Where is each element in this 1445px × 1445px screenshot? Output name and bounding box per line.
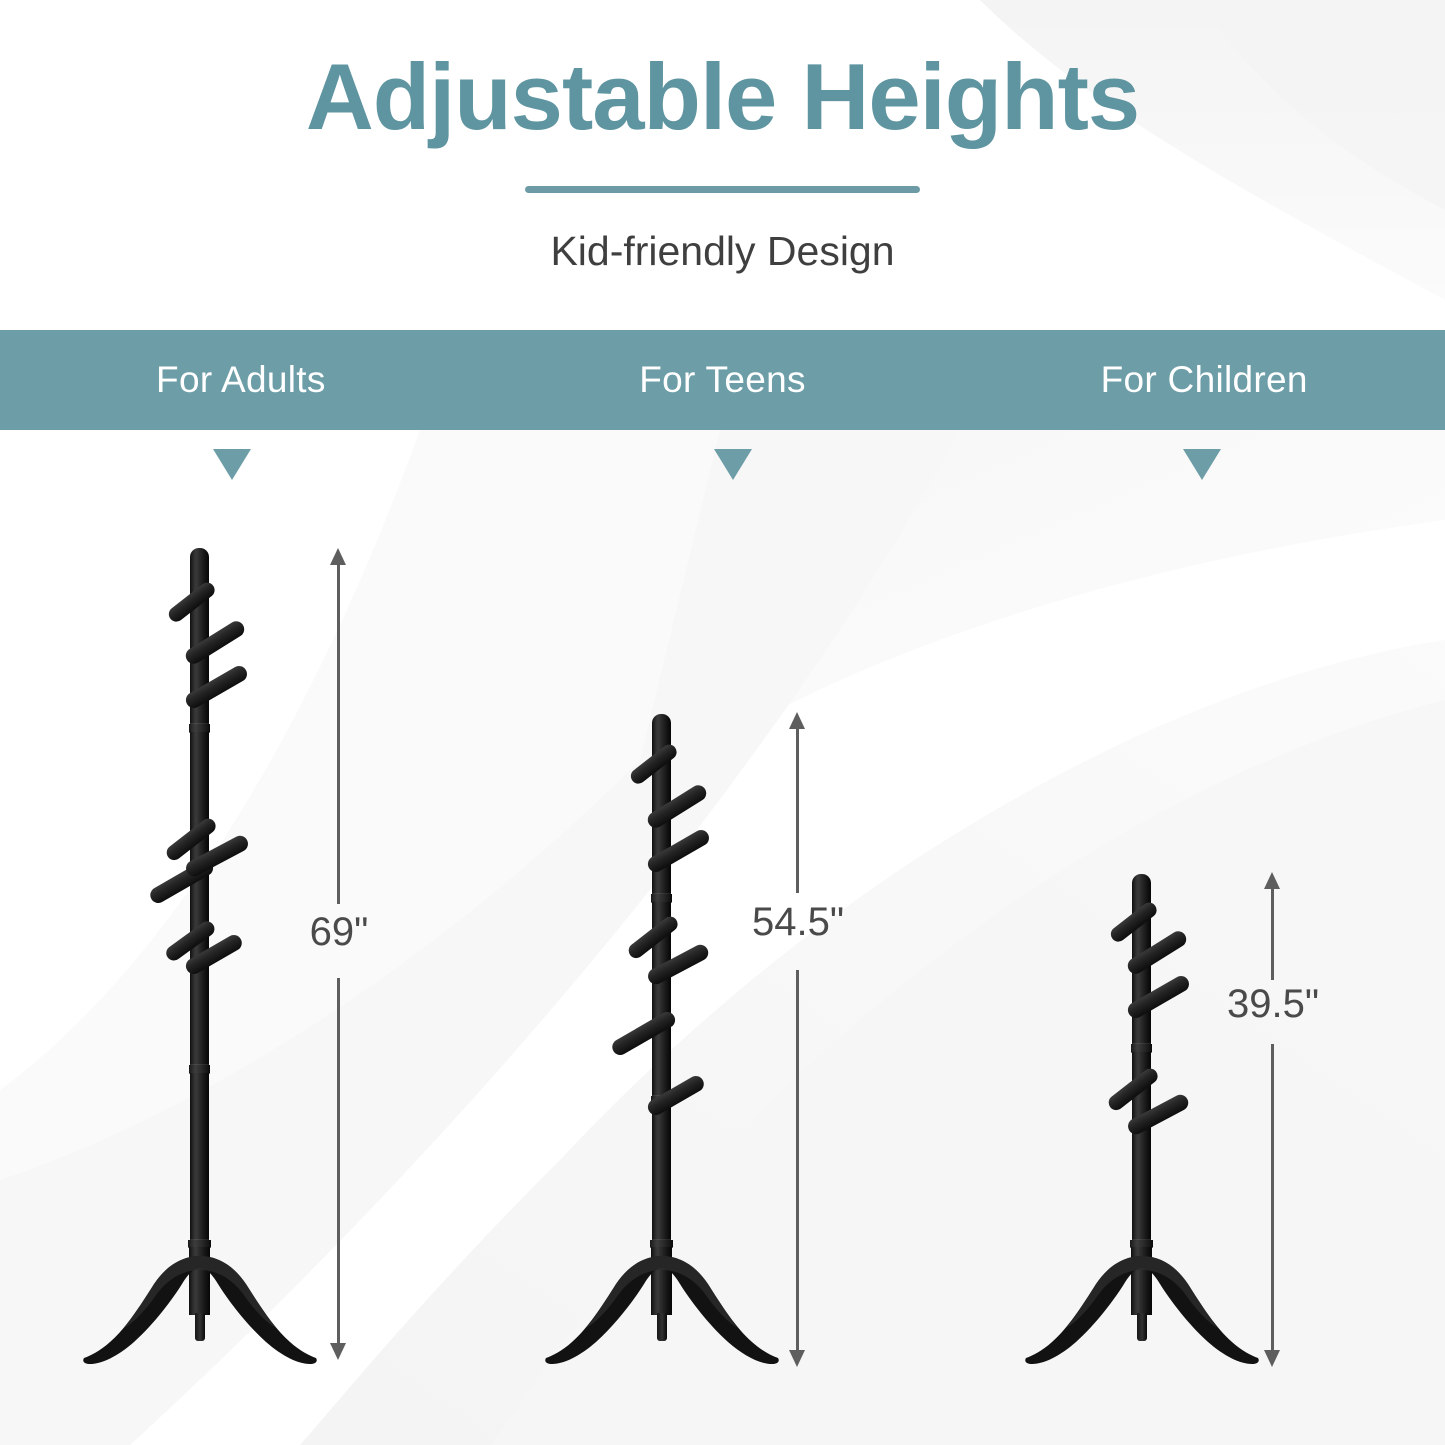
rack-joint-upper — [651, 894, 672, 902]
rack-base-tripod — [78, 1250, 322, 1370]
rack-joint-upper — [1131, 1044, 1152, 1052]
rack-post-middle — [190, 732, 209, 1065]
coat-rack-adults: 69" — [0, 0, 420, 1445]
rack-joint-lower — [189, 1065, 210, 1073]
coat-rack-teens: 54.5" — [480, 0, 920, 1445]
coat-rack-children: 39.5" — [960, 0, 1400, 1445]
rack-joint-upper — [189, 724, 210, 732]
rack-base-tripod — [1020, 1250, 1264, 1370]
rack-joint-base — [1130, 1240, 1153, 1247]
rack-post-lower — [652, 1104, 671, 1248]
rack-joint-base — [650, 1240, 673, 1247]
infographic-page: Adjustable Heights Kid-friendly Design F… — [0, 0, 1445, 1445]
dimension-label-teens: 54.5" — [703, 900, 893, 945]
dimension-label-adults: 69" — [259, 910, 419, 955]
rack-base-tripod — [540, 1250, 784, 1370]
dimension-label-children: 39.5" — [1178, 982, 1368, 1027]
rack-joint-base — [188, 1240, 211, 1247]
rack-post-lower — [190, 1073, 209, 1263]
